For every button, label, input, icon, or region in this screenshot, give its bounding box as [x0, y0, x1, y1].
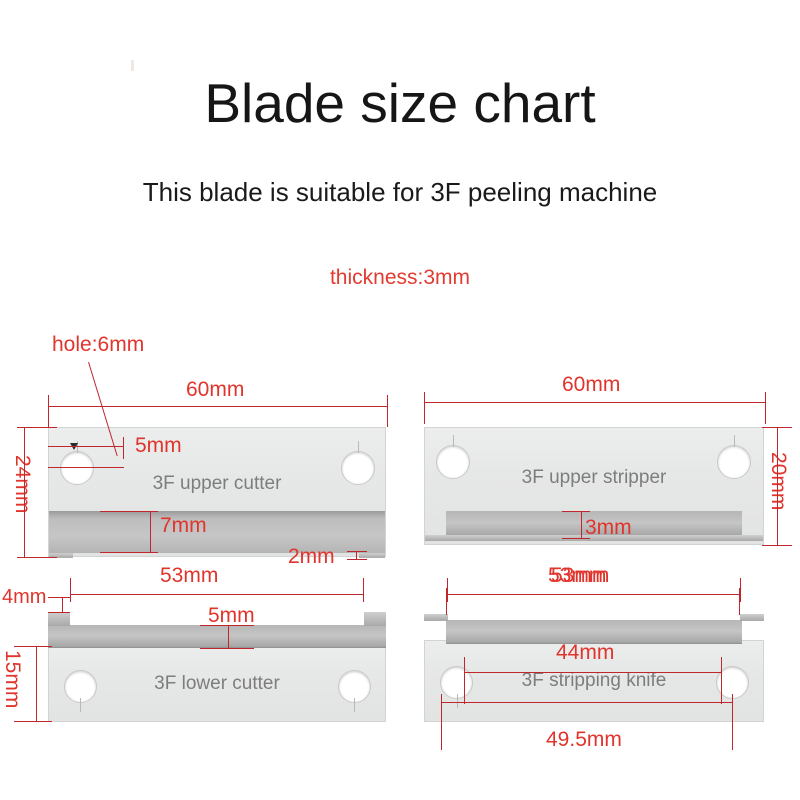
dim-ext-53mm-right [739, 588, 740, 615]
hole-center-tick-right [354, 698, 355, 712]
dim-line-5mm-top [200, 625, 254, 626]
hole-center-tick-left [80, 698, 81, 712]
dim-ext-15mm-top [14, 646, 52, 647]
dim-lower-cutter-notch: 4mm [2, 586, 46, 609]
dim-line-15mm [36, 646, 37, 722]
dim-line-53mm [446, 594, 740, 595]
dim-line-4mm-top [48, 597, 70, 598]
dim-ext-15mm-bottom [14, 721, 52, 722]
dim-line-3mm-bottom [562, 538, 590, 539]
dim-ext-20mm-top [762, 427, 792, 428]
dim-ext-20mm-bottom [762, 545, 792, 546]
hole-center-tick-right [734, 435, 735, 447]
page-title: Blade size chart [0, 72, 800, 134]
dim-upper-stripper-band: 3mm [585, 516, 632, 540]
dim-ext-5mm [228, 625, 229, 649]
dim-line-44mm [464, 672, 722, 673]
dim-ext-44mm-left [464, 657, 465, 704]
hole-center-tick-left [457, 694, 458, 708]
dim-upper-cutter-inner-width: 53mm [160, 564, 218, 588]
blade-step-right [740, 614, 764, 621]
blade-bevel-band [48, 625, 386, 648]
blade-size-chart-page: Blade size chart This blade is suitable … [0, 0, 800, 800]
dim-ext-60mm-left [48, 395, 49, 427]
dim-ext-60mm-right [765, 392, 766, 424]
dim-ext-3mm [581, 511, 582, 539]
dim-line-49-5mm [441, 702, 733, 703]
dim-upper-stripper-width: 60mm [562, 373, 620, 397]
dim-ext-44mm-right [721, 657, 722, 704]
dim-line-60mm [48, 406, 388, 407]
dim-upper-cutter-width: 60mm [186, 378, 244, 402]
blade-label-stripping-knife: 3F stripping knife [424, 670, 764, 692]
hole-center-tick-right [358, 441, 359, 453]
blade-label-lower-cutter: 3F lower cutter [48, 673, 386, 695]
thickness-note: thickness:3mm [0, 265, 800, 291]
dim-ext-24mm-top [17, 427, 57, 428]
dim-line-5mm-lower [48, 467, 124, 468]
dim-lower-cutter-height: 15mm [0, 650, 24, 708]
dim-ext-24mm-bottom [17, 557, 57, 558]
dim-ext-53mm-left [446, 588, 447, 615]
dim-ext-4mm [62, 597, 63, 613]
dim-line-53mm [70, 594, 364, 595]
dim-upper-cutter-lip: 2mm [288, 545, 335, 569]
dim-line-4mm-bottom [48, 612, 70, 613]
dim-upper-cutter-hole-offset: 5mm [135, 434, 182, 458]
dim-upper-stripper-height: 20mm [766, 452, 790, 510]
blade-step-left [424, 614, 448, 621]
blade-step-left [48, 612, 70, 626]
dim-line-3mm-top [562, 511, 590, 512]
dim-line-5mm-bottom [200, 648, 254, 649]
image-artifact-speck [131, 60, 134, 71]
page-subtitle: This blade is suitable for 3F peeling ma… [0, 176, 800, 208]
dim-ext-49-5mm-left [441, 694, 442, 750]
dim-hole-diameter: hole:6mm [52, 333, 144, 357]
blade-step-right [364, 612, 386, 626]
dim-line-2mm-bottom [347, 559, 367, 560]
hole-center-tick-left [453, 435, 454, 447]
dim-line-24mm [24, 427, 25, 558]
dim-ext-7mm [150, 511, 151, 553]
blade-label-upper-stripper: 3F upper stripper [424, 467, 764, 489]
dim-line-5mm [48, 446, 124, 447]
dim-upper-cutter-height: 24mm [10, 455, 34, 513]
dim-line-7mm-bottom [100, 552, 158, 553]
dim-ext-60mm-right [387, 395, 388, 427]
dim-line-60mm [424, 402, 766, 403]
dim-ext-60mm-left [424, 392, 425, 424]
dim-stripping-knife-hole-span: 44mm [556, 641, 614, 665]
blade-label-upper-cutter: 3F upper cutter [48, 473, 386, 495]
dim-line-2mm-top [347, 551, 367, 552]
dim-ext-5mm-right [123, 437, 124, 459]
dim-upper-cutter-bevel: 7mm [160, 514, 207, 538]
blade-bottom-lip-right [359, 553, 385, 558]
dim-stripping-knife-outer-span: 49.5mm [546, 728, 622, 752]
dim-line-20mm [777, 427, 778, 546]
dim-stripping-knife-width: 53mm [551, 564, 609, 588]
dim-ext-49-5mm-right [732, 694, 733, 750]
